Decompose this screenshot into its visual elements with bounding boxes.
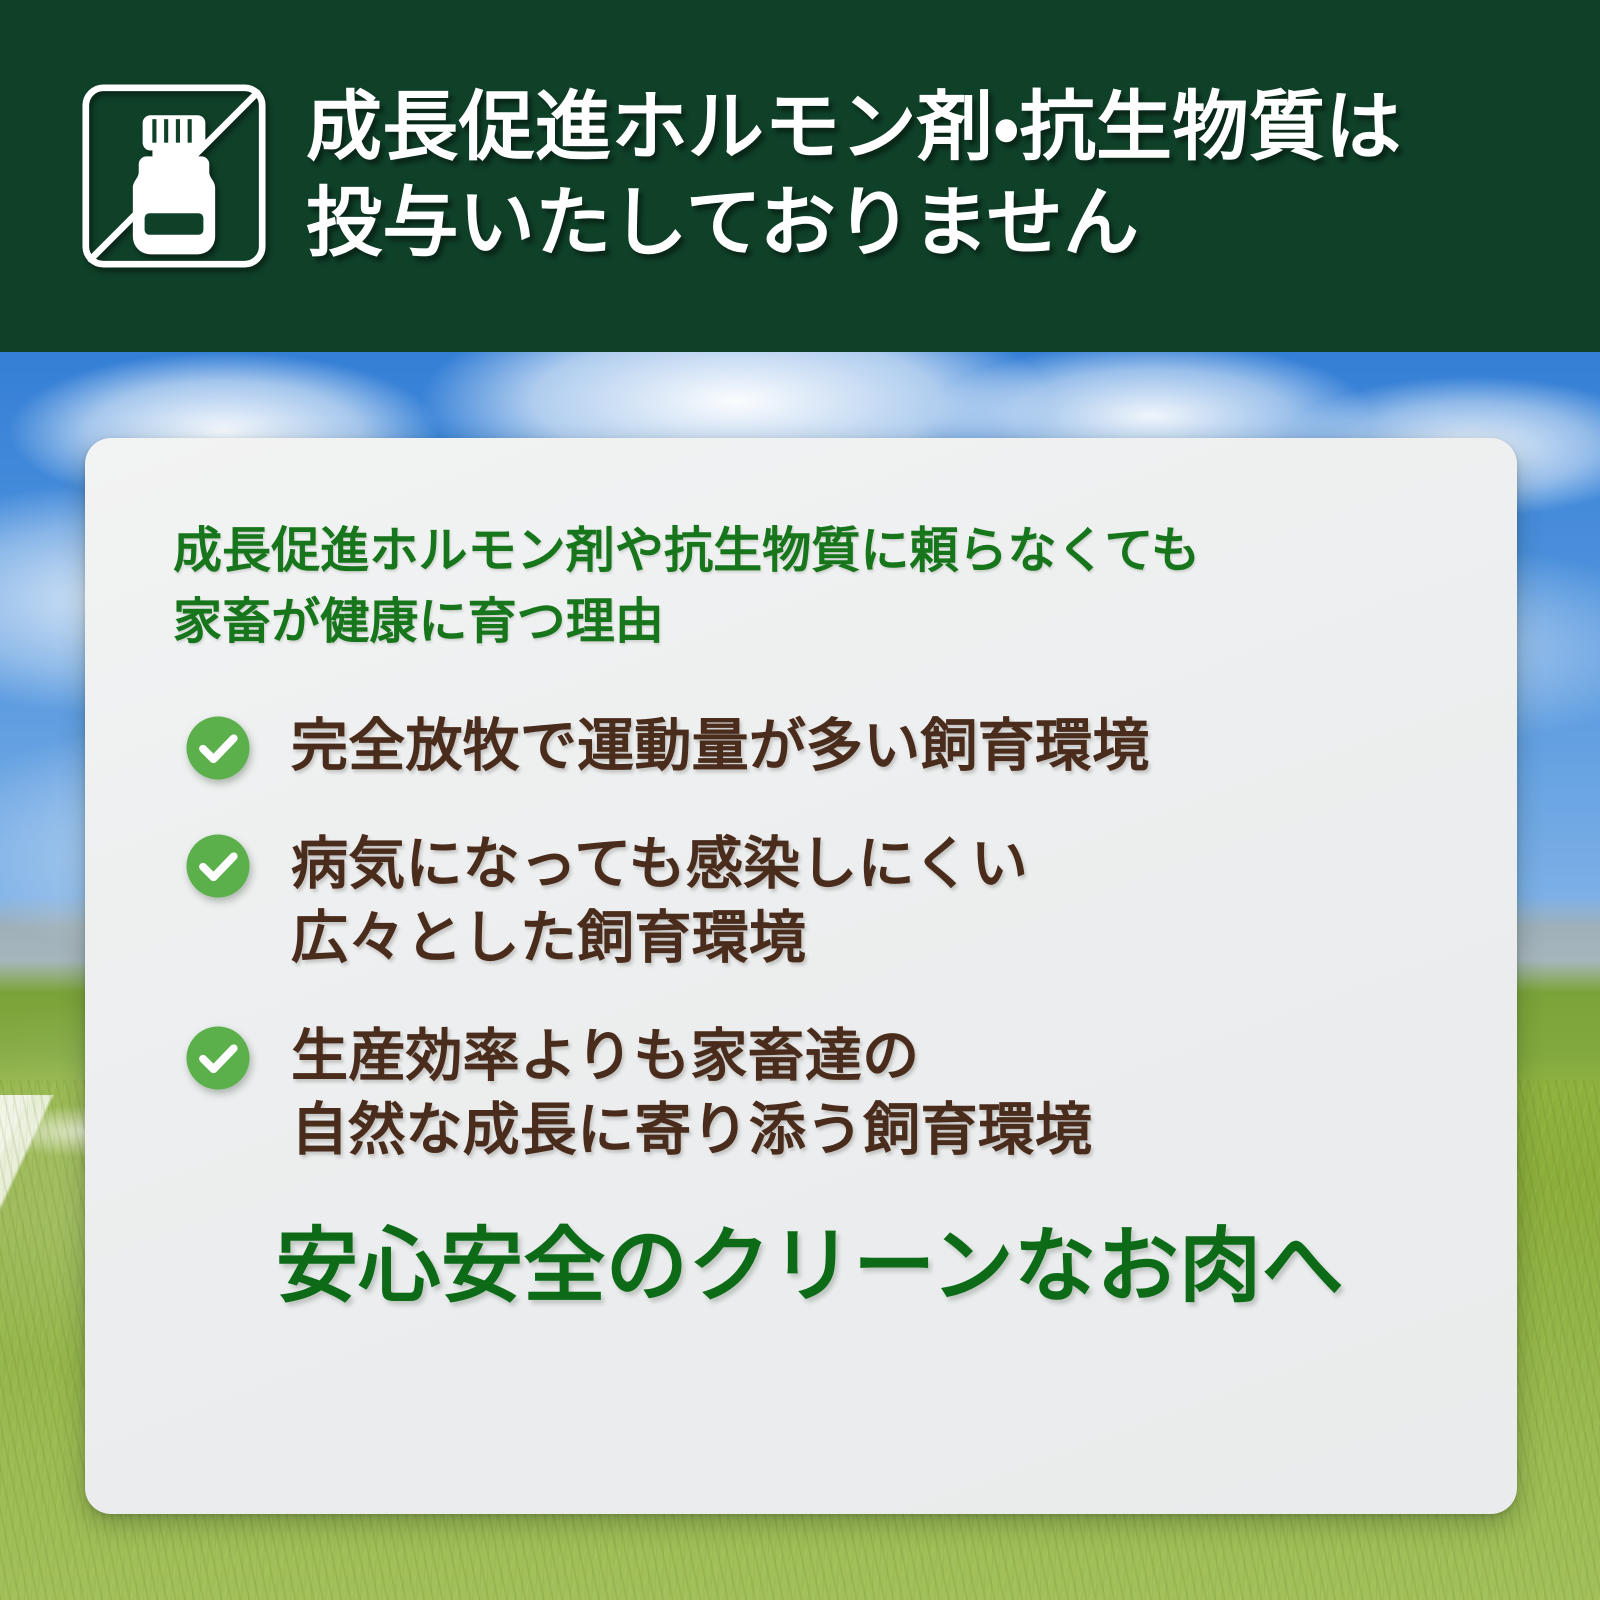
promo-poster: 成長促進ホルモン剤・抗生物質は 投与いたしておりません 成長促進ホルモン剤や抗生…	[0, 0, 1600, 1600]
header-band: 成長促進ホルモン剤・抗生物質は 投与いたしておりません	[0, 0, 1600, 352]
list-item: 完全放牧で運動量が多い飼育環境	[185, 709, 1447, 783]
reason-item-label: 生産効率よりも家畜達の 自然な成長に寄り添う飼育環境	[291, 1019, 1092, 1167]
reason-item-label: 病気になっても感染しにくい 広々とした飼育環境	[291, 827, 1028, 975]
content-card: 成長促進ホルモン剤や抗生物質に頼らなくても 家畜が健康に育つ理由 完全放牧で運動…	[85, 438, 1517, 1514]
page-title: 成長促進ホルモン剤・抗生物質は 投与いたしておりません	[306, 80, 1402, 272]
card-tagline: 安心安全のクリーンなお肉へ	[173, 1222, 1447, 1312]
check-circle-icon	[185, 715, 251, 781]
list-item: 生産効率よりも家畜達の 自然な成長に寄り添う飼育環境	[185, 1019, 1447, 1167]
reason-list: 完全放牧で運動量が多い飼育環境 病気になっても感染しにくい 広々とした飼育環境	[185, 709, 1447, 1167]
check-circle-icon	[185, 833, 251, 899]
check-circle-icon	[185, 1025, 251, 1091]
no-medicine-bottle-icon	[76, 78, 272, 274]
reason-item-label: 完全放牧で運動量が多い飼育環境	[291, 709, 1149, 783]
list-item: 病気になっても感染しにくい 広々とした飼育環境	[185, 827, 1447, 975]
card-lead-text: 成長促進ホルモン剤や抗生物質に頼らなくても 家畜が健康に育つ理由	[173, 516, 1447, 657]
